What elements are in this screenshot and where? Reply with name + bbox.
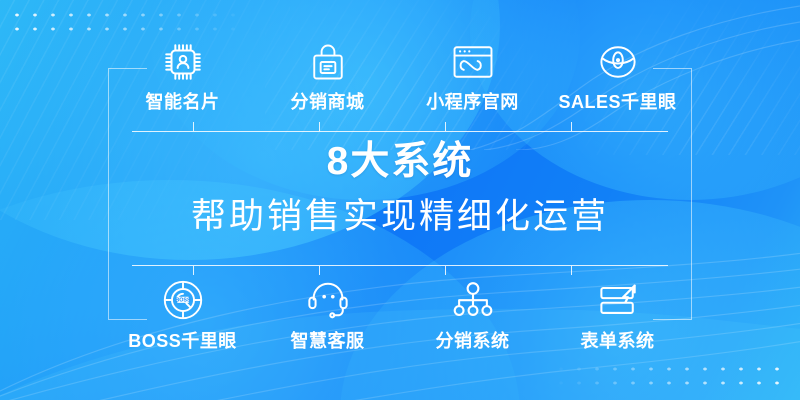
feature-item-boss-eye[interactable]: BOSS BOSS千里眼 xyxy=(110,274,255,360)
feature-row-bottom: BOSS BOSS千里眼 智慧客服 xyxy=(110,274,690,360)
page-title: 8大系统 xyxy=(0,142,800,181)
feature-item-sales-eye[interactable]: SALES千里眼 xyxy=(545,38,690,126)
form-cursor-icon xyxy=(595,277,641,323)
org-tree-icon xyxy=(450,277,496,323)
headset-support-icon xyxy=(305,277,351,323)
feature-item-distribution-system[interactable]: 分销系统 xyxy=(400,274,545,360)
feature-label: BOSS千里眼 xyxy=(128,332,237,350)
promo-banner: 智能名片 分销商城 xyxy=(0,0,800,400)
feature-item-smart-service[interactable]: 智慧客服 xyxy=(255,274,400,360)
feature-item-mini-program-site[interactable]: 小程序官网 xyxy=(400,38,545,126)
page-subtitle: 帮助销售实现精细化运营 xyxy=(0,198,800,237)
eye-icon xyxy=(594,38,642,86)
boss-target-icon: BOSS xyxy=(160,277,206,323)
feature-label: 智慧客服 xyxy=(291,332,365,350)
divider-bottom xyxy=(132,265,668,266)
feature-row-top: 智能名片 分销商城 xyxy=(110,38,690,126)
feature-label: 分销商城 xyxy=(291,93,365,111)
chip-person-icon xyxy=(159,38,207,86)
feature-item-form-system[interactable]: 表单系统 xyxy=(545,274,690,360)
feature-item-distribution-mall[interactable]: 分销商城 xyxy=(255,38,400,126)
svg-text:BOSS: BOSS xyxy=(175,298,191,304)
headline-block: 8大系统 帮助销售实现精细化运营 xyxy=(0,142,800,237)
feature-label: SALES千里眼 xyxy=(558,93,676,111)
dot-grid-top-left xyxy=(8,6,248,36)
feature-label: 表单系统 xyxy=(581,332,655,350)
divider-top xyxy=(132,131,668,132)
feature-label: 分销系统 xyxy=(436,332,510,350)
dot-grid-bottom-right xyxy=(552,360,792,390)
feature-label: 小程序官网 xyxy=(426,93,519,111)
shopping-bag-icon xyxy=(304,38,352,86)
browser-window-icon xyxy=(449,38,497,86)
feature-item-smart-business-card[interactable]: 智能名片 xyxy=(110,38,255,126)
feature-label: 智能名片 xyxy=(146,93,220,111)
